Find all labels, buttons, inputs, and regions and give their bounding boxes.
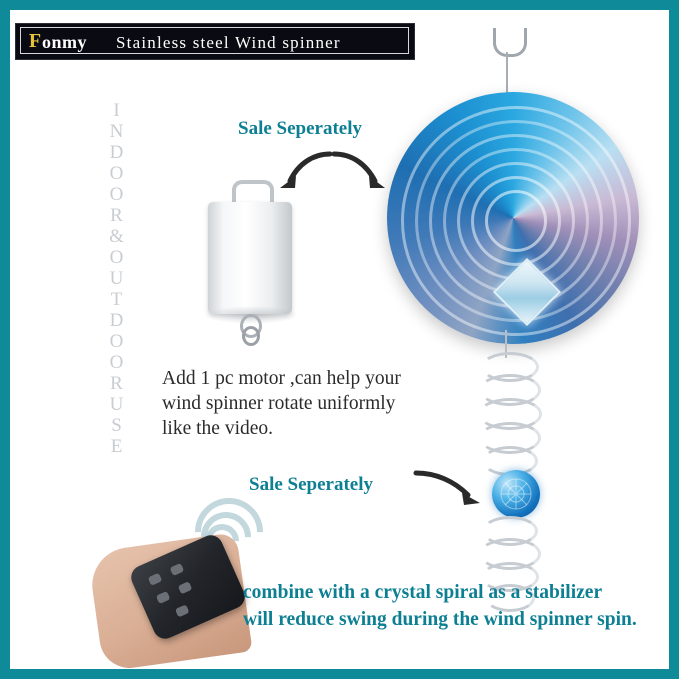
spinner-disc [387, 92, 639, 344]
banner-title: Stainless steel Wind spinner [116, 33, 341, 53]
remote-button-2 [170, 563, 185, 576]
remote-button-3 [156, 591, 171, 604]
vertical-watermark-text: I N D O O R & O U T D O O R U S E [102, 100, 132, 550]
brand-logo-text: onmy [42, 32, 87, 53]
product-image: F onmy Stainless steel Wind spinner I N … [0, 0, 679, 679]
hanger-hook-icon [493, 28, 527, 57]
spinner-ring-6 [471, 176, 561, 266]
white-canvas: F onmy Stainless steel Wind spinner I N … [10, 10, 669, 669]
motor-object [200, 180, 310, 350]
remote-button-4 [178, 581, 193, 594]
crystal-ball-facets [492, 470, 540, 518]
brand-banner: F onmy Stainless steel Wind spinner [15, 23, 415, 60]
spiral-description-text: combine with a crystal spiral as a stabi… [243, 579, 669, 633]
arrow-bottom-right-icon [410, 465, 490, 510]
spinner-center-crystal [493, 258, 561, 326]
remote-button-1 [148, 573, 163, 586]
motor-ring-lower-icon [242, 326, 260, 346]
remote-control-object [95, 490, 310, 665]
motor-cylinder-body [208, 202, 292, 314]
spinner-ring-5 [457, 162, 575, 280]
wind-spinner-object [375, 20, 655, 350]
sale-separately-top-label: Sale Seperately [238, 118, 362, 140]
motor-description-text: Add 1 pc motor ,can help your wind spinn… [162, 366, 502, 441]
spinner-ring-7 [485, 190, 547, 252]
remote-button-5 [175, 604, 190, 617]
